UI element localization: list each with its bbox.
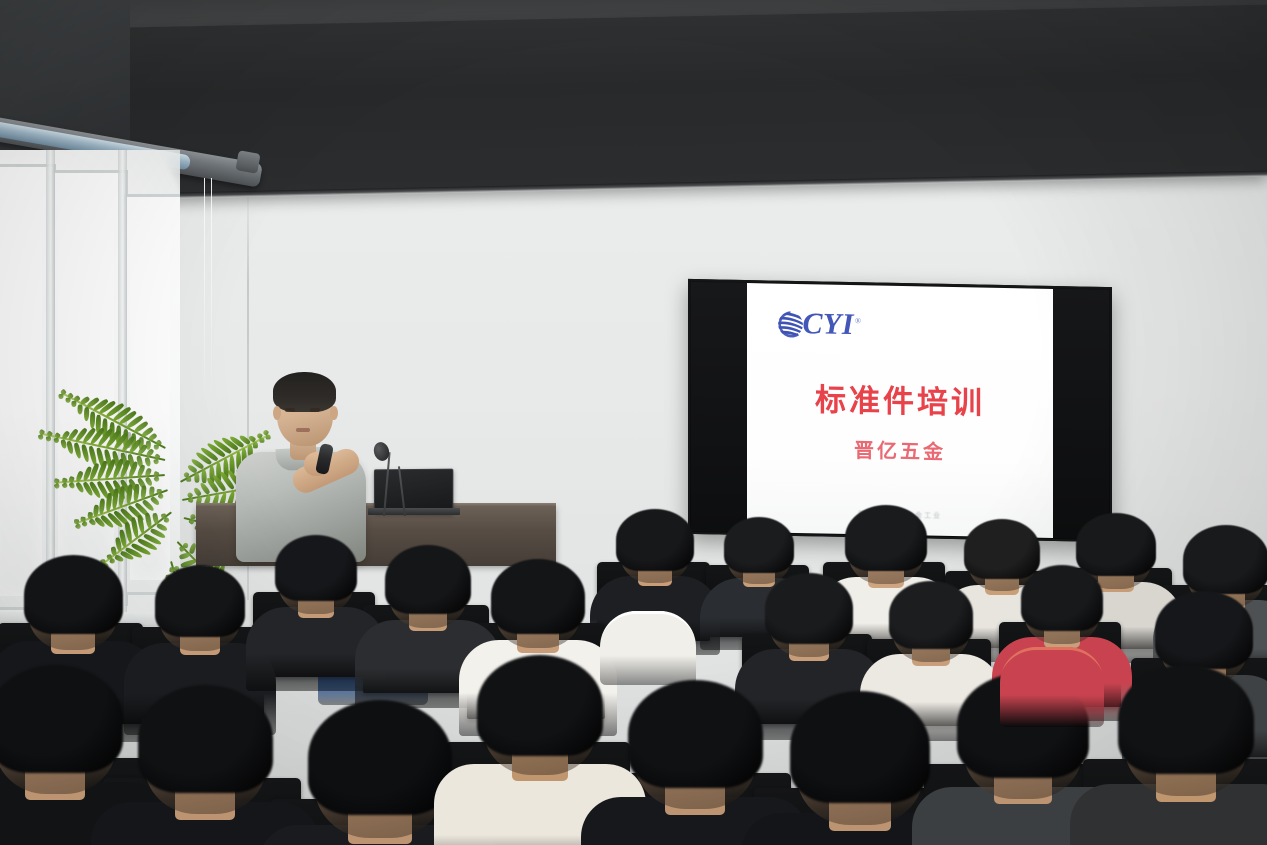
slide-subtitle: 晋亿五金 xyxy=(747,432,1053,467)
attendee xyxy=(1110,665,1262,845)
presenter-ear xyxy=(273,406,281,420)
palm-leaflet xyxy=(89,411,95,428)
attendee xyxy=(270,535,362,673)
presenter-hair xyxy=(273,372,336,412)
attendee-hair xyxy=(155,565,245,637)
presenter-ear xyxy=(330,406,338,420)
attendee-hair xyxy=(845,505,928,571)
attendee-hair xyxy=(724,517,794,573)
cyi-wordmark: CYI® xyxy=(803,310,862,341)
attendee-hair xyxy=(491,559,585,634)
attendee-hair xyxy=(1021,565,1104,631)
slide-title: 标准件培训 xyxy=(747,373,1053,424)
cyi-wordmark-text: CYI xyxy=(803,308,855,342)
striped-globe-mark-icon xyxy=(775,308,806,340)
attendee-hair xyxy=(308,700,452,815)
pink-shirt-attendee xyxy=(1000,647,1104,727)
attendee xyxy=(620,680,770,845)
attendee-hair xyxy=(616,509,693,571)
presenter-mouth xyxy=(296,428,310,432)
cyi-logo: CYI® xyxy=(775,308,862,341)
presenter-eye xyxy=(285,408,295,412)
blind-cord[interactable] xyxy=(211,178,212,414)
palm-leaflet xyxy=(72,401,77,407)
attendee-hair xyxy=(138,685,273,793)
attendee-hair xyxy=(790,691,930,803)
blind-rail-endcap[interactable] xyxy=(235,150,260,174)
attendee-hair xyxy=(628,680,763,788)
palm-leaflet xyxy=(83,408,88,422)
training-room-photo: CYI® 标准件培训 晋亿五金 晋亿实业 · 五金工业 xyxy=(0,0,1267,845)
palm-leaflet xyxy=(194,473,199,483)
attendee-hair xyxy=(1183,525,1267,594)
blind-cord[interactable] xyxy=(204,178,205,418)
attendee-hair xyxy=(477,655,603,756)
attendee-hair xyxy=(24,555,123,634)
palm-leaflet xyxy=(186,477,191,482)
attendee xyxy=(130,685,280,845)
palm-leaflet xyxy=(60,439,67,449)
attendee-hair xyxy=(889,581,974,649)
attendee-hair xyxy=(765,573,853,644)
attendee-hair xyxy=(1155,591,1252,669)
palm-leaflet xyxy=(78,405,83,415)
attendee-hair xyxy=(385,545,471,614)
attendee-hair xyxy=(0,665,123,773)
white-shirt-attendee xyxy=(600,611,696,685)
seated-attendees xyxy=(0,495,1267,845)
trademark-symbol: ® xyxy=(855,317,862,326)
attendee-hair xyxy=(275,535,358,601)
presenter-eye xyxy=(310,408,320,412)
attendee-hair xyxy=(1118,665,1255,774)
